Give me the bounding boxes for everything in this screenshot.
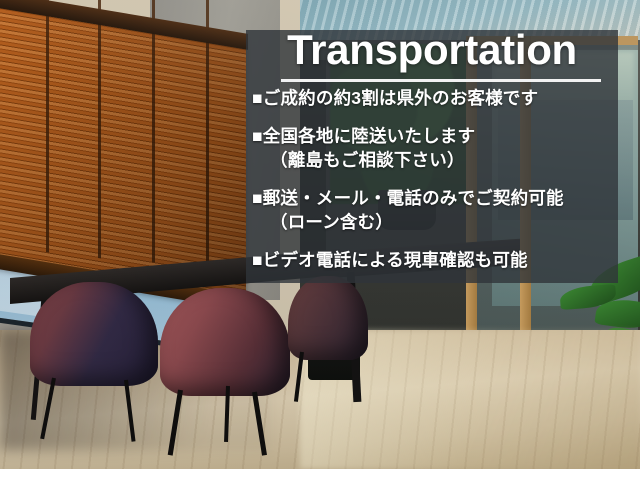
chair [30, 282, 158, 386]
page-title: Transportation [246, 26, 618, 74]
chair [160, 288, 290, 396]
list-item-note: （離島もご相談下さい） [252, 150, 618, 171]
list-item-note: （ローン含む） [252, 212, 618, 233]
list-item: ■ご成約の約3割は県外のお客様です [252, 88, 618, 109]
bottom-white-strip [0, 469, 640, 480]
list-item: ■ビデオ電話による現車確認も可能 [252, 250, 618, 271]
screenshot-canvas: Transportation ■ご成約の約3割は県外のお客様です ■全国各地に陸… [0, 0, 640, 480]
list-item: ■郵送・メール・電話のみでご契約可能 [252, 188, 618, 209]
chair [288, 276, 368, 360]
list-item: ■全国各地に陸送いたします [252, 126, 618, 147]
bullet-list: ■ご成約の約3割は県外のお客様です ■全国各地に陸送いたします （離島もご相談下… [252, 88, 618, 271]
title-underline [281, 79, 601, 82]
